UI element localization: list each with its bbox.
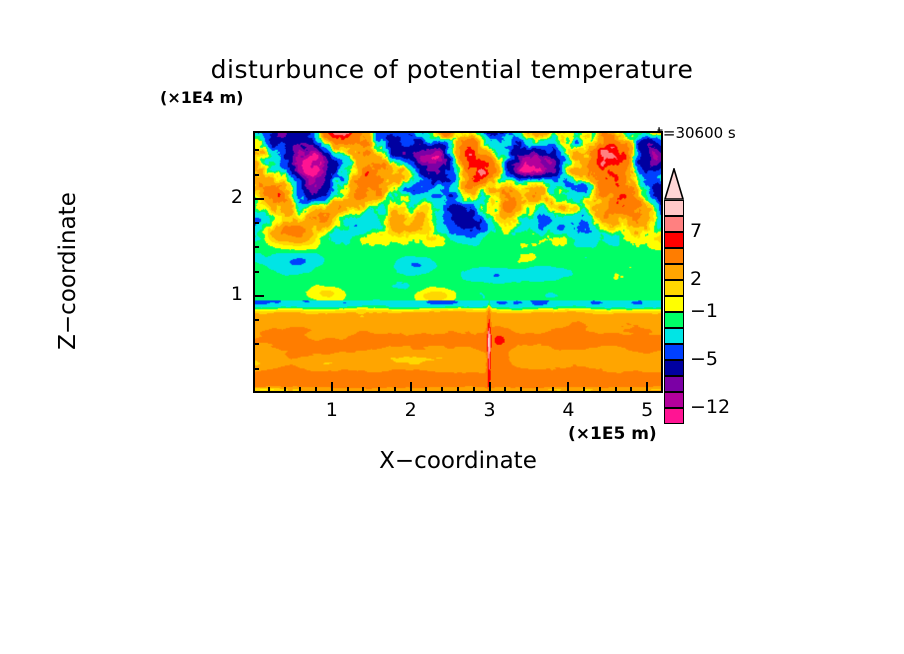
x-tick-major <box>646 382 648 393</box>
colorbar-band <box>664 248 684 264</box>
x-tick-minor <box>536 387 538 393</box>
x-tick-minor <box>299 387 301 393</box>
page-title: disturbunce of potential temperature <box>0 55 904 84</box>
x-tick-label: 5 <box>627 399 667 421</box>
figure: disturbunce of potential temperature (×1… <box>0 0 904 654</box>
x-tick-minor <box>615 387 617 393</box>
y-tick-major <box>253 295 264 297</box>
temperature-field-heatmap <box>255 133 661 391</box>
x-tick-minor <box>268 387 270 393</box>
colorbar-band <box>664 216 684 232</box>
y-tick-minor <box>253 246 259 248</box>
time-annotation: t=30600 s <box>657 124 736 142</box>
x-tick-minor <box>284 387 286 393</box>
x-tick-minor <box>599 387 601 393</box>
x-tick-minor <box>378 387 380 393</box>
x-tick-minor <box>583 387 585 393</box>
colorbar-tick-label: 2 <box>690 268 702 290</box>
x-tick-major <box>331 382 333 393</box>
colorbar-band <box>664 280 684 296</box>
y-tick-minor <box>253 343 259 345</box>
y-tick-label: 1 <box>217 283 243 305</box>
x-axis-title: X−coordinate <box>253 448 663 474</box>
contour-plot-area <box>253 131 663 393</box>
x-tick-minor <box>520 387 522 393</box>
x-tick-minor <box>425 387 427 393</box>
x-tick-minor <box>504 387 506 393</box>
x-tick-minor <box>552 387 554 393</box>
x-tick-major <box>410 382 412 393</box>
colorbar-band <box>664 200 684 216</box>
colorbar-band <box>664 264 684 280</box>
x-tick-label: 4 <box>548 399 588 421</box>
x-axis-units-label: (×1E5 m) <box>568 424 657 444</box>
y-axis-title: Z−coordinate <box>55 141 81 401</box>
colorbar-band <box>664 408 684 424</box>
x-tick-label: 1 <box>312 399 352 421</box>
colorbar-band <box>664 312 684 328</box>
x-tick-major <box>489 382 491 393</box>
x-tick-label: 2 <box>391 399 431 421</box>
x-tick-minor <box>315 387 317 393</box>
x-tick-minor <box>362 387 364 393</box>
y-tick-minor <box>253 368 259 370</box>
colorbar-band <box>664 376 684 392</box>
colorbar-band <box>664 296 684 312</box>
x-tick-minor <box>630 387 632 393</box>
x-tick-minor <box>457 387 459 393</box>
x-tick-label: 3 <box>470 399 510 421</box>
x-tick-major <box>567 382 569 393</box>
colorbar-band <box>664 360 684 376</box>
colorbar-band <box>664 328 684 344</box>
colorbar-band <box>664 392 684 408</box>
y-tick-minor <box>253 149 259 151</box>
colorbar-tick-label: 7 <box>690 220 702 242</box>
y-tick-major <box>253 198 264 200</box>
y-tick-label: 2 <box>217 186 243 208</box>
y-tick-minor <box>253 319 259 321</box>
colorbar-tick-label: −5 <box>690 348 718 370</box>
colorbar-tick-label: −12 <box>690 396 730 418</box>
x-tick-minor <box>347 387 349 393</box>
x-tick-minor <box>473 387 475 393</box>
colorbar-extend-arrow <box>664 168 684 200</box>
x-tick-minor <box>394 387 396 393</box>
y-axis-units-label: (×1E4 m) <box>160 88 243 107</box>
colorbar-band <box>664 232 684 248</box>
colorbar-band <box>664 344 684 360</box>
y-tick-minor <box>253 174 259 176</box>
colorbar-tick-label: −1 <box>690 300 718 322</box>
y-tick-minor <box>253 222 259 224</box>
x-tick-minor <box>441 387 443 393</box>
y-tick-minor <box>253 271 259 273</box>
